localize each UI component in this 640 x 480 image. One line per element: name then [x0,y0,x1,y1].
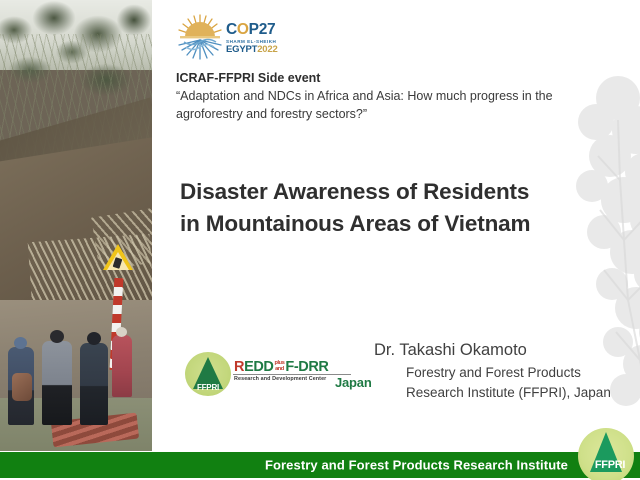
redd-letters-edd: EDD [244,359,273,375]
author-name: Dr. Takashi Okamoto [374,340,634,361]
photo-person-3-head [87,332,101,345]
photo-person-2 [42,341,72,425]
event-block: ICRAF-FFPRI Side event “Adaptation and N… [176,70,556,123]
redd-center-name: Research and Development Center [234,376,326,382]
photo-backpack [12,373,32,401]
redd-stack-and: and [275,366,284,372]
redd-wordmark: REDDplusandF-DRR Research and Developmen… [231,352,375,396]
author-block: Dr. Takashi Okamoto Forestry and Forest … [374,340,634,402]
photo-person-2-head [50,330,64,343]
cop27-p27: P27 [249,21,276,38]
redd-plus-fdrr-logo: FFPRI REDDplusandF-DRR Research and Deve… [185,352,375,396]
redd-wordmark-line: REDDplusandF-DRR [234,360,329,375]
redd-fdrr: F-DRR [285,359,328,375]
ffpri-badge-icon: FFPRI [578,428,634,480]
redd-letter-r: R [234,359,244,375]
footer-institute-name: Forestry and Forest Products Research In… [265,458,568,473]
slide-root: COP27 SHARM EL-SHEIKH EGYPT2022 ICRAF-FF… [0,0,640,480]
page-title-line1: Disaster Awareness of Residents [180,176,610,208]
slide-content: COP27 SHARM EL-SHEIKH EGYPT2022 ICRAF-FF… [152,0,640,451]
event-title: ICRAF-FFPRI Side event [176,70,556,87]
author-affiliation-line1: Forestry and Forest Products [406,363,634,382]
cop27-sun-icon [176,14,224,60]
photo-person-3 [80,343,108,425]
ffpri-logo: FFPRI [574,428,638,478]
redd-badge-label: FFPRI [185,383,231,392]
page-title: Disaster Awareness of Residents in Mount… [180,176,610,240]
cop27-country: EGYPT [226,44,257,55]
cop27-year: 2022 [257,44,277,55]
author-affiliation: Forestry and Forest Products Research In… [374,363,634,401]
author-affiliation-line2: Research Institute (FFPRI), Japan [406,383,634,402]
ffpri-logo-label: FFPRI [582,459,634,471]
cop27-wordmark: COP27 [226,22,275,38]
redd-divider [233,374,351,375]
redd-japan-label: Japan [335,375,372,390]
cop27-country-year: EGYPT2022 [226,45,278,55]
redd-ffpri-badge-icon: FFPRI [185,352,231,396]
landslide-field-photo [0,0,152,451]
cop27-letter-c: C [226,21,237,38]
cop27-logo: COP27 SHARM EL-SHEIKH EGYPT2022 [176,12,296,62]
photo-person-4 [112,335,132,397]
event-subtitle: “Adaptation and NDCs in Africa and Asia:… [176,88,556,124]
cop27-letter-o: O [237,21,249,38]
footer-bar: Forestry and Forest Products Research In… [0,452,640,478]
photo-person-1-head [14,337,27,349]
redd-plus-and-stack: plusand [275,361,285,373]
page-title-line2: in Mountainous Areas of Vietnam [180,208,610,240]
photo-person-4-head [116,327,127,337]
